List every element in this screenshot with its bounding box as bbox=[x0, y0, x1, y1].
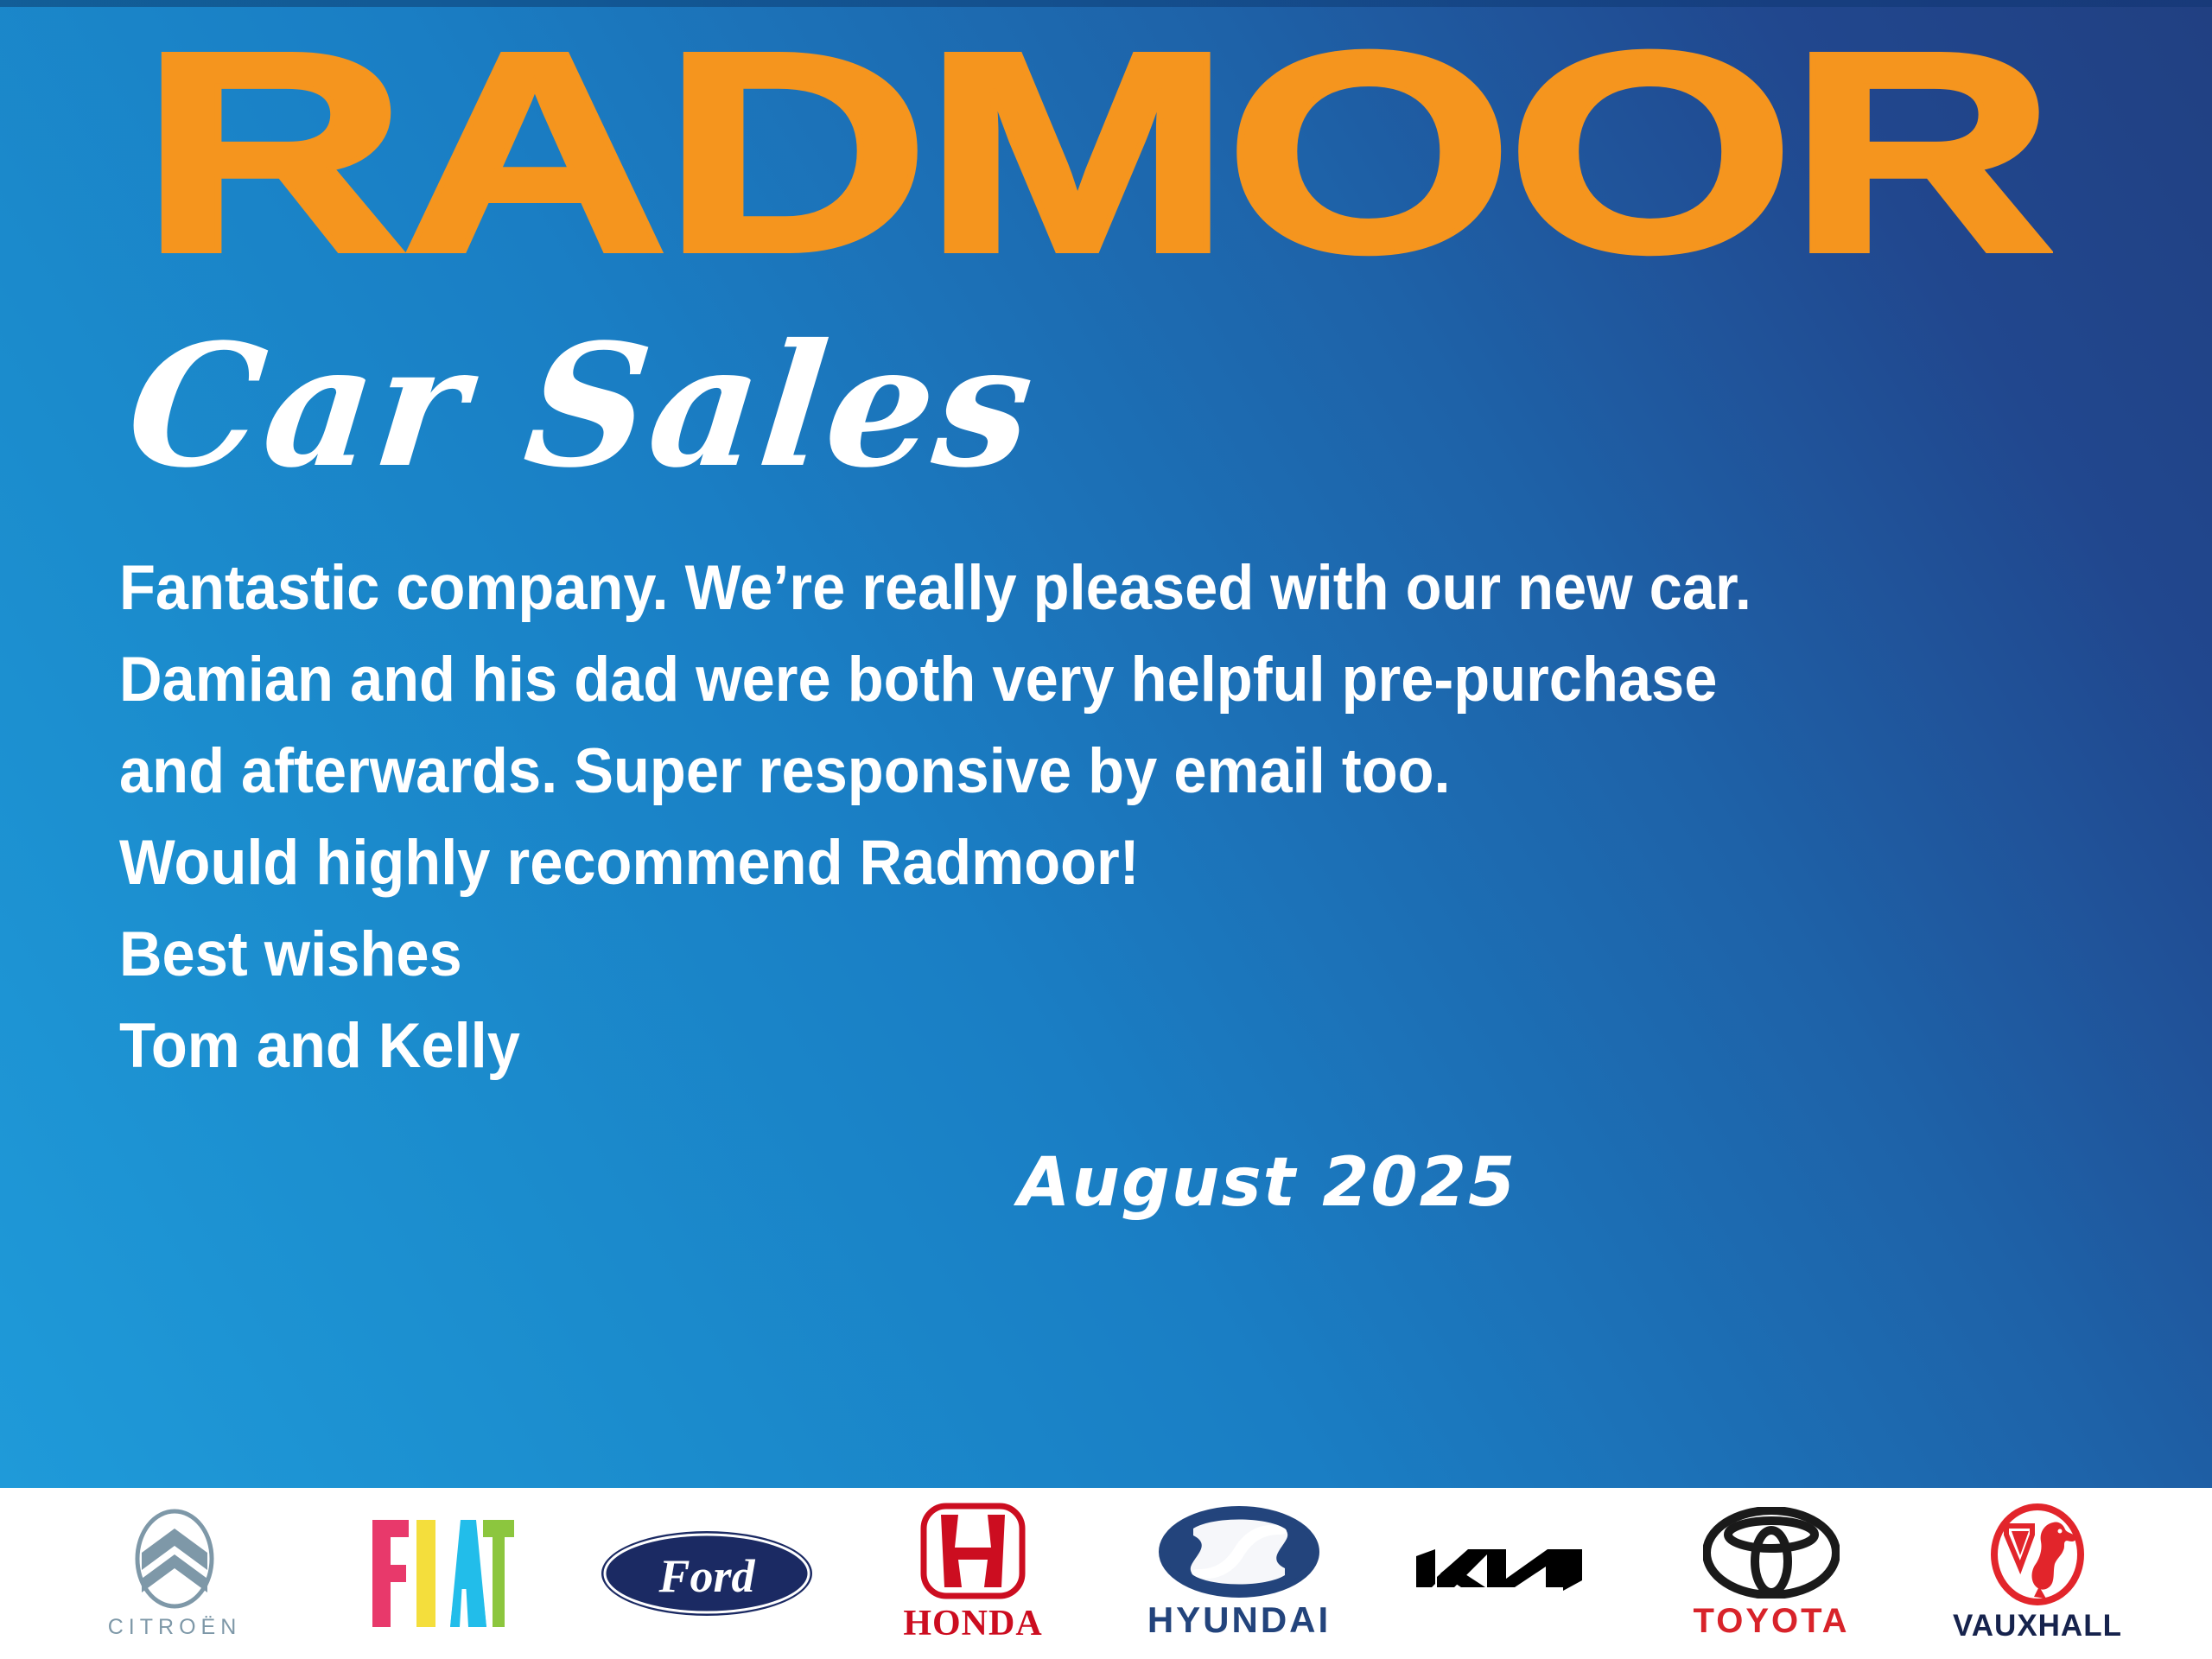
brand-logo-toyota: TOYOTA bbox=[1638, 1491, 1904, 1656]
review-date: August 2025 bbox=[1018, 1149, 1516, 1217]
brand-logo-vauxhall: VAUXHALL bbox=[1904, 1491, 2171, 1656]
honda-wordmark: HONDA bbox=[903, 1603, 1042, 1644]
hyundai-oval-h-icon bbox=[1159, 1506, 1319, 1598]
testimonial-line: Tom and Kelly bbox=[119, 1001, 1987, 1092]
ford-script-text: Ford bbox=[658, 1550, 755, 1602]
honda-h-icon bbox=[920, 1503, 1026, 1599]
brand-logo-kia: KIA bbox=[1372, 1491, 1638, 1656]
vauxhall-griffin-icon bbox=[1991, 1503, 2084, 1605]
ford-oval-icon: Ford bbox=[599, 1529, 815, 1618]
testimonial-line: Would highly recommend Radmoor! bbox=[119, 817, 1987, 909]
testimonial-text: Fantastic company. We’re really pleased … bbox=[119, 543, 2107, 1092]
testimonial-line: and afterwards. Super responsive by emai… bbox=[119, 726, 1987, 817]
testimonial-line: Damian and his dad were both very helpfu… bbox=[119, 634, 1987, 726]
testimonial-line: Best wishes bbox=[119, 909, 1987, 1001]
brand-name-car-sales: Car Sales bbox=[121, 321, 1042, 490]
citroen-double-chevron-icon bbox=[131, 1508, 218, 1610]
brand-logo-citroen: CITROËN bbox=[41, 1491, 308, 1656]
toyota-ellipses-icon bbox=[1703, 1507, 1840, 1599]
hyundai-wordmark: HYUNDAI bbox=[1147, 1599, 1331, 1641]
citroen-wordmark: CITROËN bbox=[108, 1615, 242, 1640]
review-poster: RADMOOR Car Sales Fantastic company. We’… bbox=[0, 0, 2212, 1659]
brand-logo-fiat: FIAT bbox=[308, 1491, 574, 1656]
toyota-wordmark: TOYOTA bbox=[1694, 1602, 1850, 1641]
brand-logo: RADMOOR Car Sales bbox=[121, 29, 2134, 496]
brand-name-radmoor: RADMOOR bbox=[140, 29, 2049, 275]
fiat-letters-icon bbox=[367, 1516, 514, 1630]
brand-logo-hyundai: HYUNDAI bbox=[1106, 1491, 1372, 1656]
brand-logo-ford: Ford bbox=[574, 1491, 840, 1656]
vauxhall-wordmark: VAUXHALL bbox=[1953, 1609, 2122, 1643]
brand-logo-honda: HONDA bbox=[840, 1491, 1106, 1656]
brand-logo-strip: CITROËN FIAT For bbox=[0, 1488, 2212, 1659]
kia-wordmark-icon bbox=[1411, 1537, 1599, 1610]
testimonial-line: Fantastic company. We’re really pleased … bbox=[119, 543, 1987, 634]
